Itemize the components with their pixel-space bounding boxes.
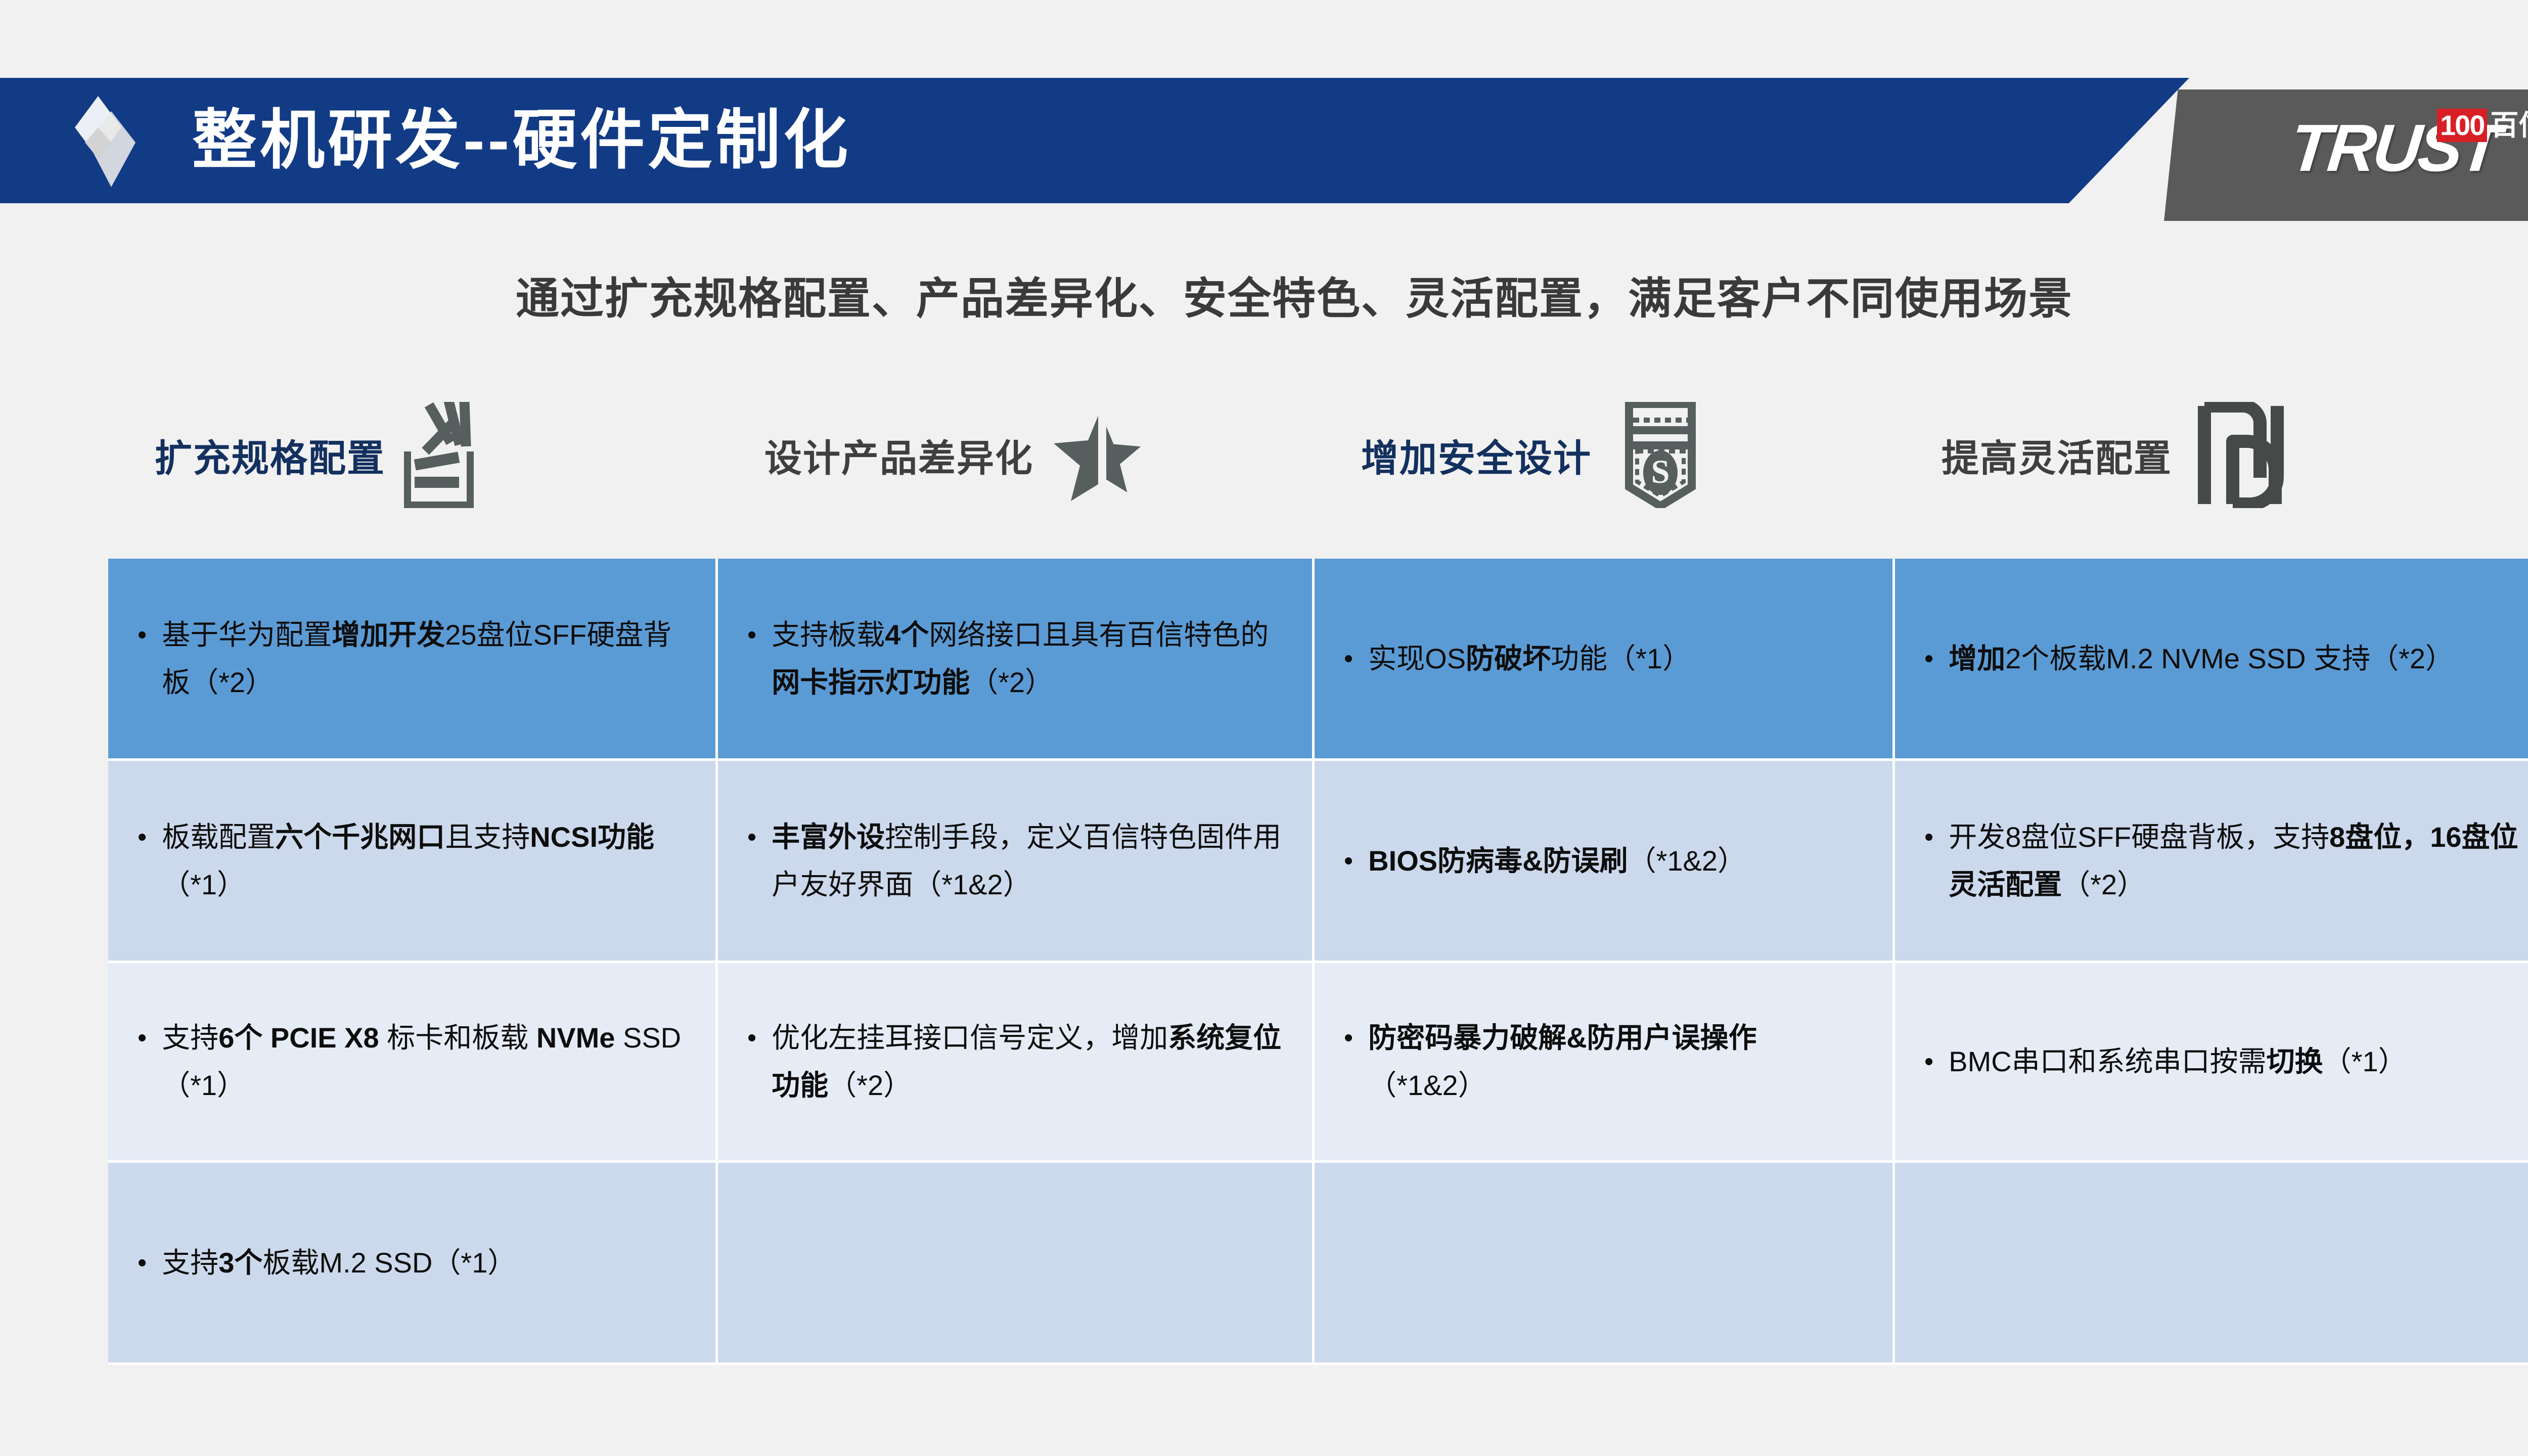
table-cell: • 板载配置六个千兆网口且支持NCSI功能（*1） <box>108 761 718 963</box>
bullet-marker: • <box>747 611 756 659</box>
bullet-marker: • <box>138 1014 147 1062</box>
column-4-label: 提高灵活配置 <box>1942 428 2172 482</box>
half-star-icon <box>1052 402 1153 508</box>
table-cell: • BIOS防病毒&防误刷（*1&2） <box>1315 761 1895 963</box>
bullet-item: • BMC串口和系统串口按需切换（*1） <box>1924 1038 2528 1085</box>
column-header-2: 设计产品差异化 <box>718 354 1315 556</box>
cell-text: 支持6个 PCIE X8 标卡和板载 NVMe SSD（*1） <box>162 1014 688 1109</box>
bullet-marker: • <box>1344 837 1353 885</box>
bullet-item: • 开发8盘位SFF硬盘背板，支持8盘位，16盘位灵活配置（*2） <box>1924 813 2528 908</box>
company-logo: TRUST 100 百信 <box>2290 104 2528 205</box>
bullet-marker: • <box>1344 635 1353 682</box>
column-header-3: 增加安全设计 S <box>1315 354 1895 556</box>
cell-text: BMC串口和系统串口按需切换（*1） <box>1949 1038 2528 1085</box>
table-cell <box>718 1163 1315 1365</box>
cell-text: 增加2个板载M.2 NVMe SSD 支持（*2） <box>1949 635 2528 682</box>
table-cell: • 优化左挂耳接口信号定义，增加系统复位功能（*2） <box>718 963 1315 1163</box>
bullet-marker: • <box>1344 1014 1353 1062</box>
bullet-marker: • <box>1924 1038 1933 1085</box>
column-3-label: 增加安全设计 <box>1361 428 1592 482</box>
bullet-marker: • <box>138 813 147 861</box>
cell-text: 支持板载4个网络接口且具有百信特色的网卡指示灯功能（*2） <box>772 611 1285 706</box>
bullet-marker: • <box>747 1014 756 1062</box>
table-cell: • 基于华为配置增加开发25盘位SFF硬盘背板（*2） <box>108 559 718 761</box>
feature-table: • 基于华为配置增加开发25盘位SFF硬盘背板（*2） • 支持板载4个网络接口… <box>108 559 2528 1365</box>
column-header-row: 扩充规格配置 设计产品差异化 <box>108 354 2528 556</box>
diamond-icon <box>75 96 136 187</box>
bullet-item: • 支持3个板载M.2 SSD（*1） <box>138 1239 688 1287</box>
logo-badge: 100 百信 <box>2437 109 2528 142</box>
column-header-1: 扩充规格配置 <box>108 354 718 556</box>
cell-text: 开发8盘位SFF硬盘背板，支持8盘位，16盘位灵活配置（*2） <box>1949 813 2528 908</box>
table-cell: • 实现OS防破坏功能（*1） <box>1315 559 1895 761</box>
table-cell <box>1895 1163 2528 1365</box>
bullet-marker: • <box>138 1239 147 1287</box>
bullet-item: • 支持6个 PCIE X8 标卡和板载 NVMe SSD（*1） <box>138 1014 688 1109</box>
cell-text: BIOS防病毒&防误刷（*1&2） <box>1368 837 1865 885</box>
table-cell: • 支持6个 PCIE X8 标卡和板载 NVMe SSD（*1） <box>108 963 718 1163</box>
cell-text: 优化左挂耳接口信号定义，增加系统复位功能（*2） <box>772 1014 1285 1109</box>
nd-monogram-icon <box>2190 402 2291 508</box>
table-cell: • 开发8盘位SFF硬盘背板，支持8盘位，16盘位灵活配置（*2） <box>1895 761 2528 963</box>
subtitle: 通过扩充规格配置、产品差异化、安全特色、灵活配置，满足客户不同使用场景 <box>0 263 2528 326</box>
fanned-pages-icon <box>403 402 505 508</box>
bullet-item: • 支持板载4个网络接口且具有百信特色的网卡指示灯功能（*2） <box>747 611 1285 706</box>
column-1-label: 扩充规格配置 <box>155 428 385 482</box>
slide-canvas: 整机研发--硬件定制化 TRUST 100 百信 通过扩充规格配置、产品差异化、… <box>0 0 2528 1456</box>
bullet-item: • 板载配置六个千兆网口且支持NCSI功能（*1） <box>138 813 688 908</box>
bullet-item: • 实现OS防破坏功能（*1） <box>1344 635 1865 682</box>
cell-text: 丰富外设控制手段，定义百信特色固件用户友好界面（*1&2） <box>772 813 1285 908</box>
logo-badge-number: 100 <box>2437 109 2487 142</box>
cell-text: 支持3个板载M.2 SSD（*1） <box>162 1239 688 1287</box>
table-cell: • 支持3个板载M.2 SSD（*1） <box>108 1163 718 1365</box>
table-cell <box>1315 1163 1895 1365</box>
page-title: 整机研发--硬件定制化 <box>192 100 851 181</box>
column-header-4: 提高灵活配置 <box>1895 354 2528 556</box>
bullet-item: • BIOS防病毒&防误刷（*1&2） <box>1344 837 1865 885</box>
cell-text: 板载配置六个千兆网口且支持NCSI功能（*1） <box>162 813 688 908</box>
bullet-marker: • <box>747 813 756 861</box>
column-2-label: 设计产品差异化 <box>764 428 1033 482</box>
cell-text: 防密码暴力破解&防用户误操作（*1&2） <box>1368 1014 1865 1109</box>
table-cell: • 增加2个板载M.2 NVMe SSD 支持（*2） <box>1895 559 2528 761</box>
logo-badge-text: 百信 <box>2487 109 2528 142</box>
bullet-item: • 防密码暴力破解&防用户误操作（*1&2） <box>1344 1014 1865 1109</box>
cell-text: 基于华为配置增加开发25盘位SFF硬盘背板（*2） <box>162 611 688 706</box>
svg-text:S: S <box>1651 453 1670 490</box>
bullet-item: • 丰富外设控制手段，定义百信特色固件用户友好界面（*1&2） <box>747 813 1285 908</box>
bullet-marker: • <box>1924 813 1933 861</box>
security-badge-s-icon: S <box>1610 402 1711 508</box>
table-cell: • 防密码暴力破解&防用户误操作（*1&2） <box>1315 963 1895 1163</box>
bullet-marker: • <box>1924 635 1933 682</box>
table-cell: • BMC串口和系统串口按需切换（*1） <box>1895 963 2528 1163</box>
table-cell: • 丰富外设控制手段，定义百信特色固件用户友好界面（*1&2） <box>718 761 1315 963</box>
bullet-item: • 基于华为配置增加开发25盘位SFF硬盘背板（*2） <box>138 611 688 706</box>
bullet-item: • 增加2个板载M.2 NVMe SSD 支持（*2） <box>1924 635 2528 682</box>
table-cell: • 支持板载4个网络接口且具有百信特色的网卡指示灯功能（*2） <box>718 559 1315 761</box>
cell-text: 实现OS防破坏功能（*1） <box>1368 635 1865 682</box>
bullet-item: • 优化左挂耳接口信号定义，增加系统复位功能（*2） <box>747 1014 1285 1109</box>
bullet-marker: • <box>138 611 147 659</box>
